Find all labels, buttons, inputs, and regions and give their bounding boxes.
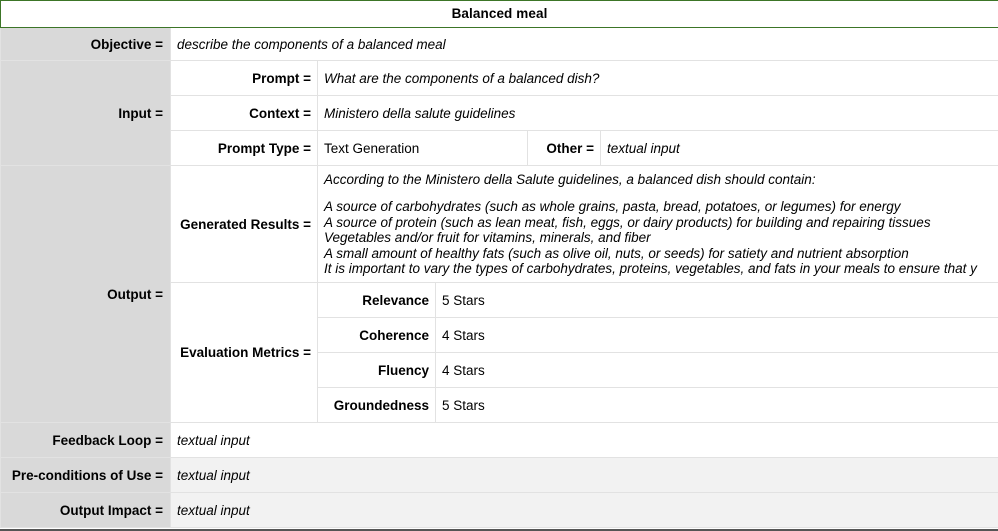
- objective-label: Objective =: [1, 28, 171, 61]
- generated-results-line: It is important to vary the types of car…: [324, 261, 998, 277]
- output-label: Output =: [1, 166, 171, 423]
- metric-value-relevance[interactable]: 5 Stars: [436, 283, 998, 318]
- generated-results-line: A source of carbohydrates (such as whole…: [324, 199, 998, 215]
- page-title: Balanced meal: [1, 1, 998, 28]
- objective-value[interactable]: describe the components of a balanced me…: [171, 28, 998, 61]
- prompt-type-label: Prompt Type =: [171, 131, 318, 166]
- feedback-loop-value[interactable]: textual input: [171, 423, 998, 458]
- output-impact-row: Output Impact = textual input: [1, 493, 998, 528]
- generated-results-spacer: [324, 187, 998, 199]
- generated-results-line: A source of protein (such as lean meat, …: [324, 215, 998, 231]
- context-value[interactable]: Ministero della salute guidelines: [318, 96, 998, 131]
- title-row: Balanced meal: [1, 1, 998, 28]
- other-label: Other =: [528, 131, 601, 166]
- context-label: Context =: [171, 96, 318, 131]
- metric-value-groundedness[interactable]: 5 Stars: [436, 388, 998, 423]
- generated-results-row: Output = Generated Results = According t…: [1, 166, 998, 283]
- feedback-loop-label: Feedback Loop =: [1, 423, 171, 458]
- preconditions-label: Pre-conditions of Use =: [1, 458, 171, 493]
- input-label: Input =: [1, 61, 171, 166]
- spreadsheet-canvas: Balanced meal Objective = describe the c…: [0, 0, 998, 531]
- input-prompt-row: Input = Prompt = What are the components…: [1, 61, 998, 96]
- metric-name-relevance: Relevance: [318, 283, 436, 318]
- prompt-type-value[interactable]: Text Generation: [318, 131, 528, 166]
- prompt-label: Prompt =: [171, 61, 318, 96]
- metric-name-coherence: Coherence: [318, 318, 436, 353]
- feedback-loop-row: Feedback Loop = textual input: [1, 423, 998, 458]
- output-impact-value[interactable]: textual input: [171, 493, 998, 528]
- other-value[interactable]: textual input: [601, 131, 998, 166]
- metric-name-groundedness: Groundedness: [318, 388, 436, 423]
- metric-value-fluency[interactable]: 4 Stars: [436, 353, 998, 388]
- objective-row: Objective = describe the components of a…: [1, 28, 998, 61]
- output-impact-label: Output Impact =: [1, 493, 171, 528]
- evaluation-metrics-label: Evaluation Metrics =: [171, 283, 318, 423]
- generated-results-line: Vegetables and/or fruit for vitamins, mi…: [324, 230, 998, 246]
- balanced-meal-table: Balanced meal Objective = describe the c…: [0, 0, 998, 528]
- generated-results-value[interactable]: According to the Ministero della Salute …: [318, 166, 998, 283]
- prompt-value[interactable]: What are the components of a balanced di…: [318, 61, 998, 96]
- metric-value-coherence[interactable]: 4 Stars: [436, 318, 998, 353]
- preconditions-value[interactable]: textual input: [171, 458, 998, 493]
- metric-name-fluency: Fluency: [318, 353, 436, 388]
- generated-results-line: A small amount of healthy fats (such as …: [324, 246, 998, 262]
- preconditions-row: Pre-conditions of Use = textual input: [1, 458, 998, 493]
- generated-results-label: Generated Results =: [171, 166, 318, 283]
- generated-results-line: According to the Ministero della Salute …: [324, 172, 998, 188]
